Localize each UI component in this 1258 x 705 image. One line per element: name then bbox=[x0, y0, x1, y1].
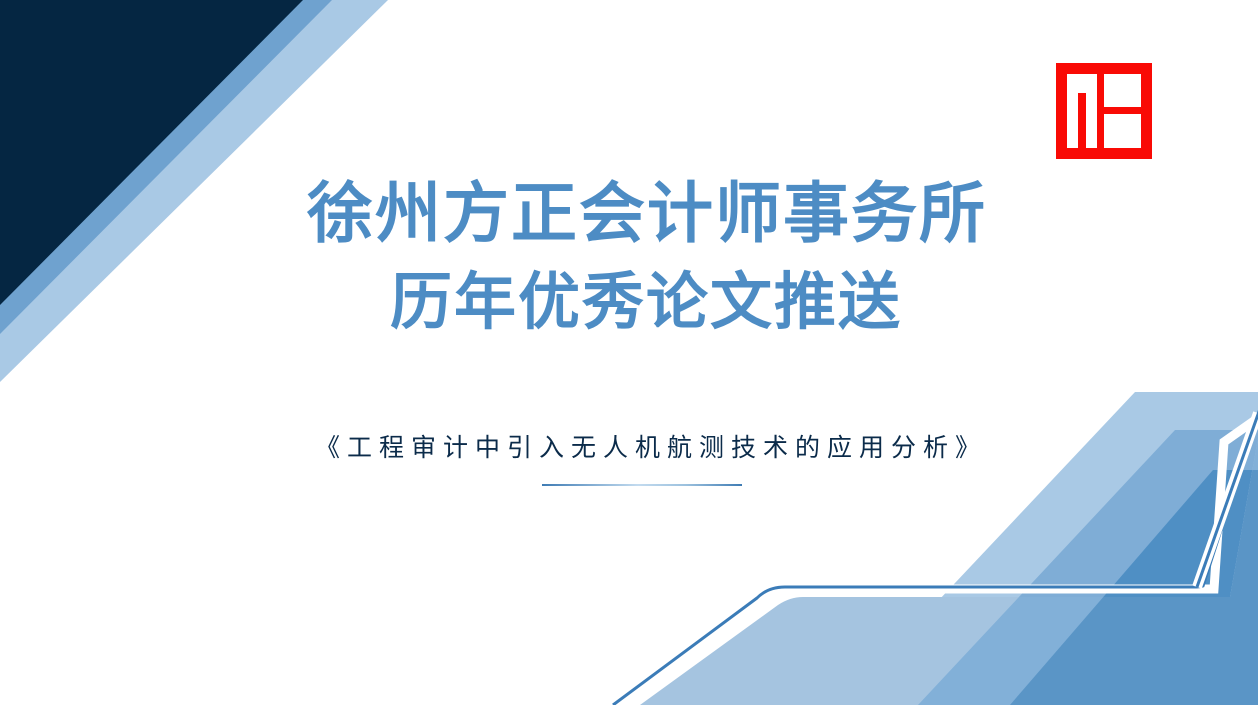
logo-left-red-stem bbox=[1078, 93, 1086, 148]
logo-right-top-white-block bbox=[1104, 74, 1141, 107]
presentation-slide: 徐州方正会计师事务所 历年优秀论文推送 《工程审计中引入无人机航测技术的应用分析… bbox=[0, 0, 1258, 705]
title-block: 徐州方正会计师事务所 历年优秀论文推送 bbox=[0, 180, 1258, 334]
title-divider-line bbox=[542, 484, 742, 486]
slide-title-line-2: 历年优秀论文推送 bbox=[34, 272, 1258, 334]
logo-right-bottom-white-block bbox=[1104, 114, 1141, 148]
fangzheng-logo[interactable] bbox=[1056, 63, 1152, 159]
slide-title-line-1: 徐州方正会计师事务所 bbox=[36, 180, 1258, 246]
slide-subtitle: 《工程审计中引入无人机航测技术的应用分析》 bbox=[22, 428, 1258, 464]
